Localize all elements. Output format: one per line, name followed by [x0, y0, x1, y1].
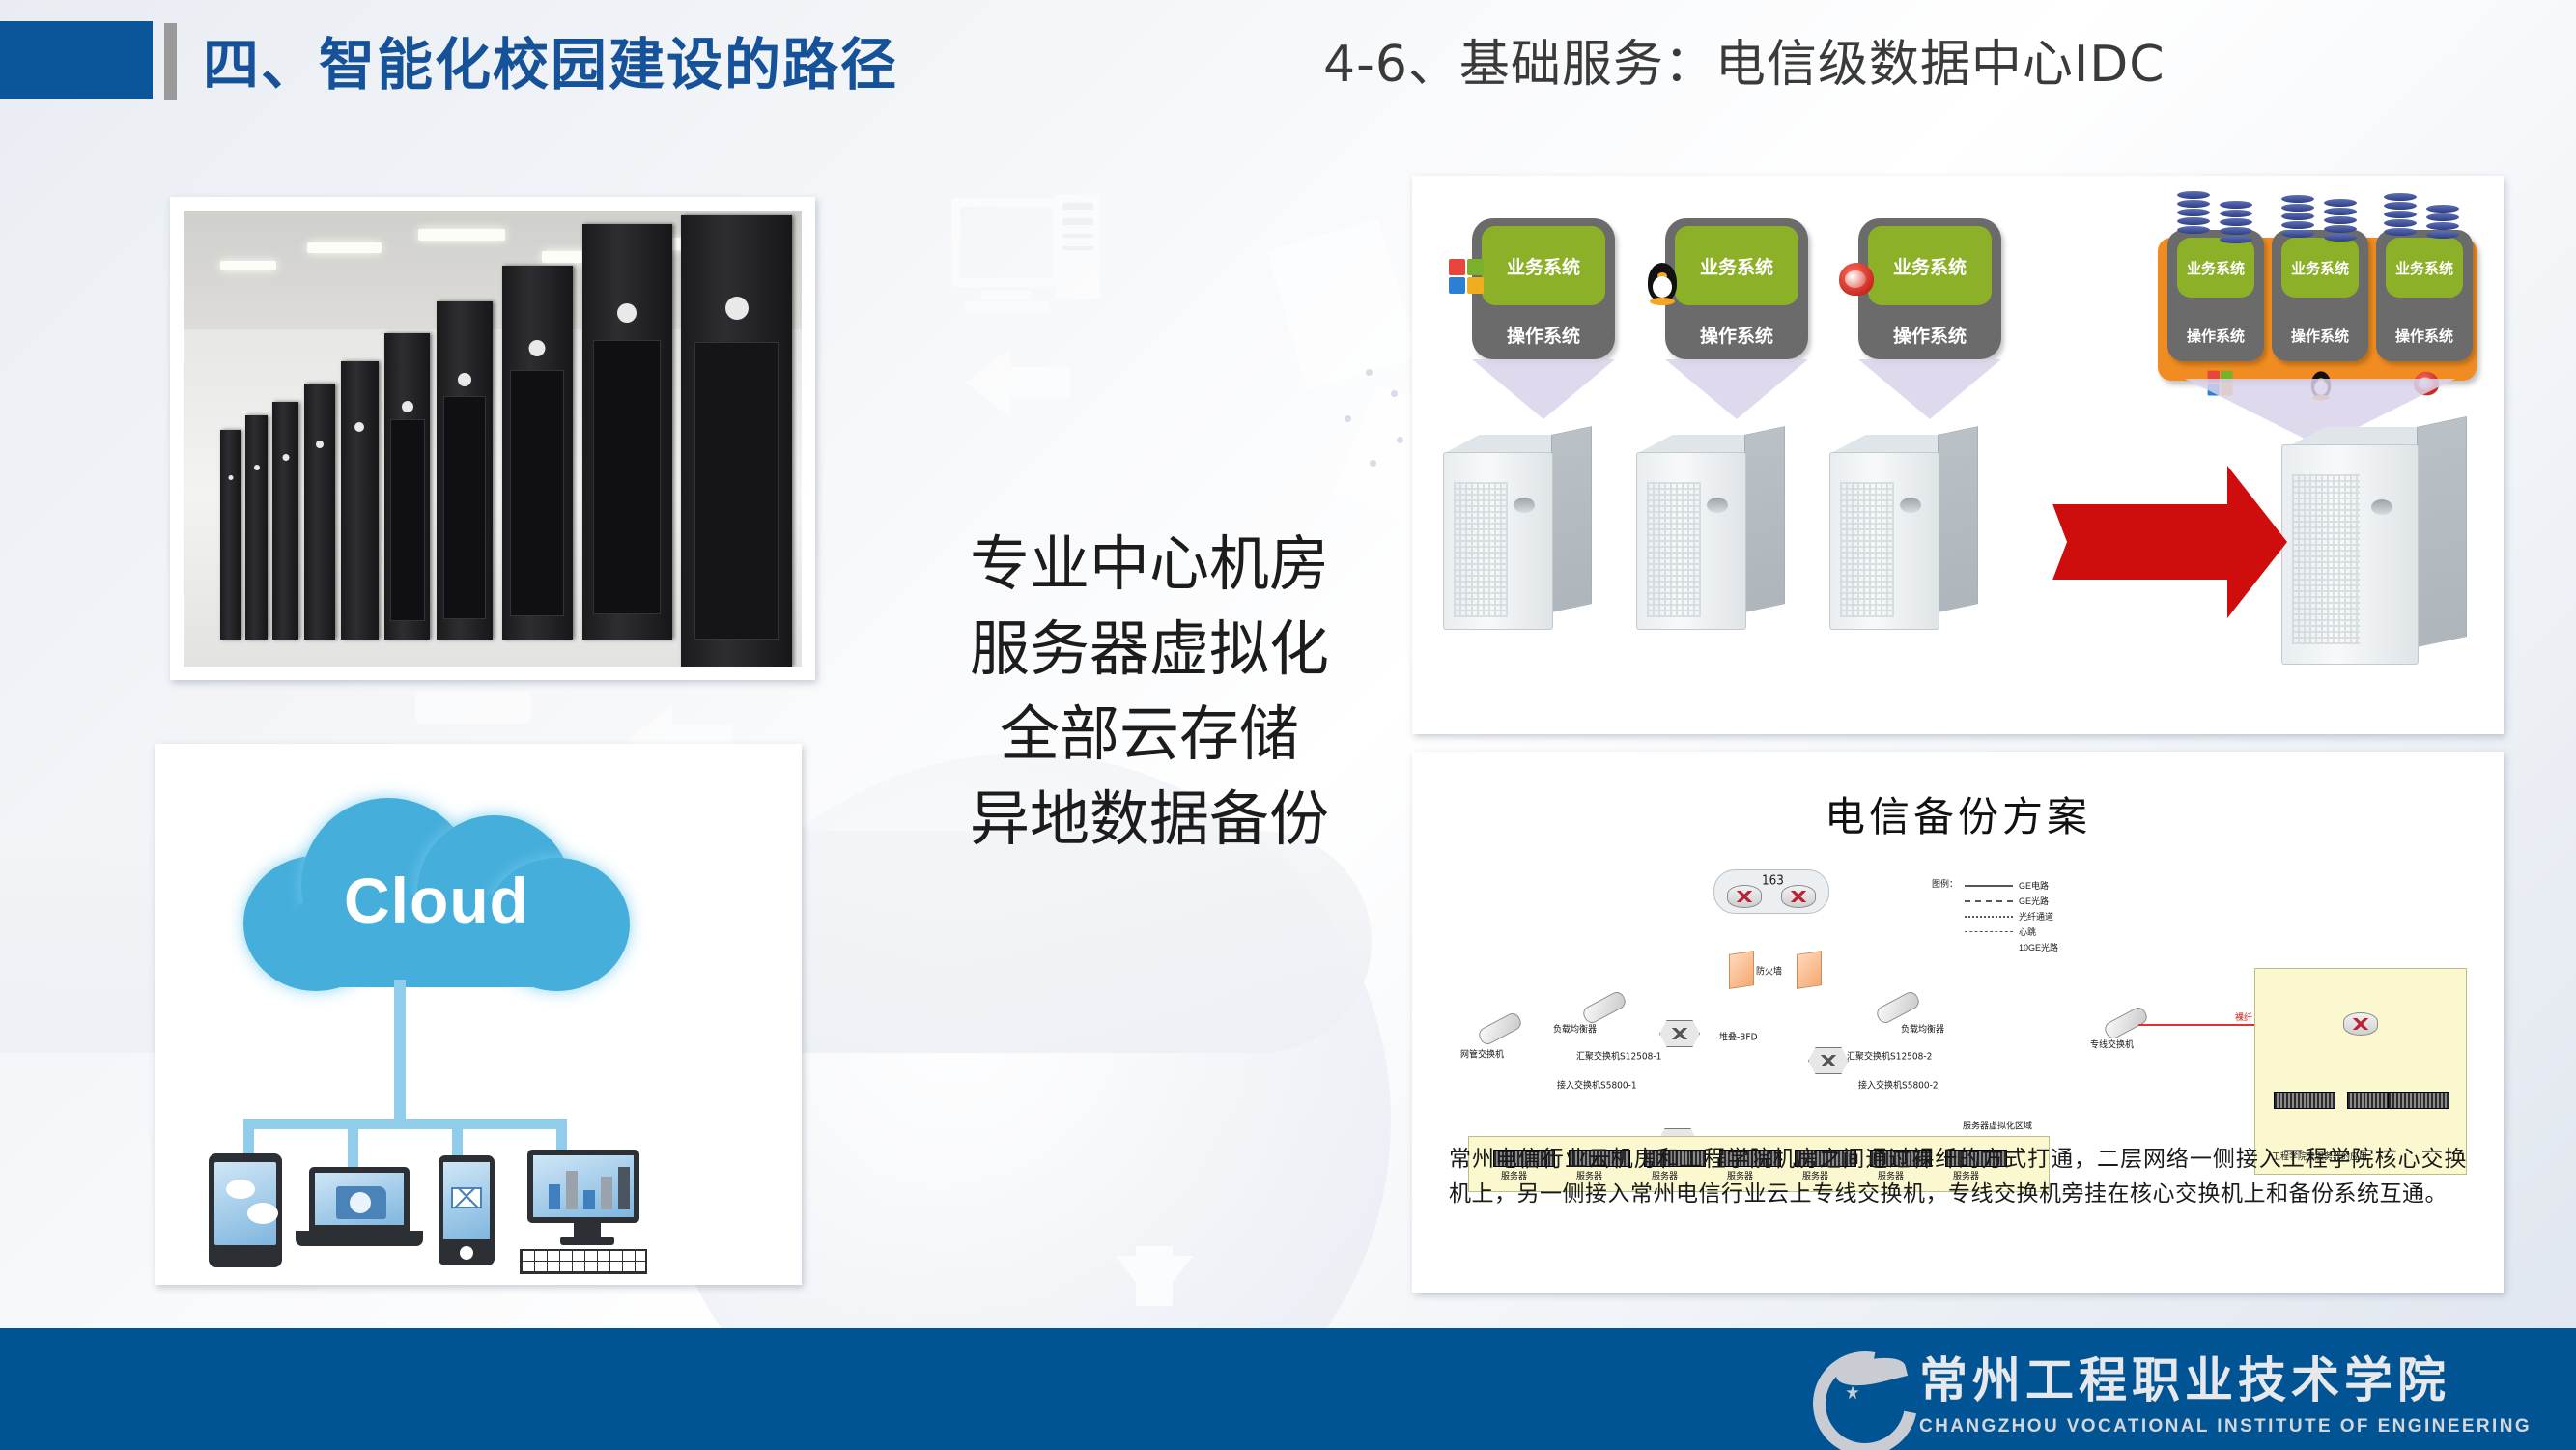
device-phone: [439, 1155, 495, 1265]
legend-line-dotted: [1965, 916, 2013, 918]
server-rack: [304, 384, 335, 639]
server-rack: [502, 266, 574, 640]
legend-item-label: 10GE光路: [2019, 941, 2058, 953]
server-rack: [272, 402, 298, 639]
load-balancer-left-node: [1580, 989, 1628, 1025]
center-key-points: 专业中心机房 服务器虚拟化 全部云存储 异地数据备份: [898, 522, 1401, 862]
legend-line-dashdot: [1965, 931, 2013, 932]
vm-os-label: 操作系统: [1665, 322, 1808, 348]
cloud-diagram-content: Cloud: [166, 755, 790, 1273]
vm-box-redos: 业务系统 操作系统: [2376, 230, 2473, 361]
firewall-node: [1729, 951, 1754, 989]
footer-bar: 常州工程职业技术学院 CHANGZHOU VOCATIONAL INSTITUT…: [0, 1328, 2576, 1450]
vm-box-linux: 业务系统 操作系统: [2272, 230, 2368, 361]
network-legend: 图例： GE电路 GE光路 光纤通道 心跳 10GE光路: [1932, 877, 2058, 956]
page-title: 四、智能化校园建设的路径: [203, 19, 898, 100]
mgmt-switch-label: 网管交换机: [1460, 1046, 1504, 1060]
mgmt-switch-node: [1476, 1010, 1523, 1046]
virtualization-diagram-content: 业务系统 操作系统 业务系统 操作系统 业务系统 操作系统: [1422, 185, 2494, 725]
access-switch-1-label: 接入交换机S5800-1: [1557, 1077, 1637, 1091]
ceiling-light: [220, 261, 276, 270]
backup-plan-diagram: 电信备份方案 163 防火墙 汇聚交换机S12508-1 汇聚交换机S12508…: [1412, 752, 2504, 1293]
legend-item-label: 心跳: [2019, 925, 2036, 938]
server-rack: [437, 301, 493, 639]
vm-os-label: 操作系统: [2376, 326, 2473, 346]
server-rack: [681, 215, 792, 667]
legend-line-solid: [1965, 885, 2013, 887]
core-router-node: [1781, 885, 1816, 908]
storage-disk-stack-icon: [2324, 199, 2357, 242]
server-room-photo: [170, 197, 815, 680]
key-point-line: 服务器虚拟化: [898, 607, 1401, 692]
vm-box-redos: 业务系统 操作系统: [1858, 218, 2001, 359]
header-accent-block: [0, 21, 153, 99]
server-room-photo-content: [184, 211, 802, 667]
load-balancer-right-label: 负载均衡器: [1901, 1021, 1944, 1035]
inter-switch-link-label: 堆叠-BFD: [1719, 1029, 1758, 1042]
backup-plan-title: 电信备份方案: [1422, 784, 2494, 843]
vm-projection-cone: [1472, 359, 1615, 419]
dedicated-switch-label: 专线交换机: [2090, 1037, 2134, 1050]
remote-server-node: [2388, 1092, 2449, 1109]
background-desktop-pc-icon: [951, 198, 1062, 312]
storage-disk-stack-icon: [2281, 195, 2314, 239]
institution-name-en: CHANGZHOU VOCATIONAL INSTITUTE OF ENGINE…: [1919, 1416, 2532, 1437]
vm-app-label: 业务系统: [1675, 226, 1798, 305]
physical-server: [1829, 435, 1976, 628]
vm-box-windows: 业务系统 操作系统: [1472, 218, 1615, 359]
server-rack: [341, 361, 378, 640]
storage-disk-stack-icon: [2220, 201, 2252, 244]
access-switch-2-label: 接入交换机S5800-2: [1858, 1077, 1939, 1091]
legend-line-dashed: [1965, 900, 2013, 902]
remote-server-node: [2274, 1092, 2335, 1109]
key-point-line: 全部云存储: [898, 692, 1401, 777]
core-switch-2-label: 汇聚交换机S12508-2: [1847, 1048, 1932, 1062]
firewall-node: [1797, 951, 1822, 989]
vm-app-label: 业务系统: [1482, 226, 1605, 305]
ceiling-light: [418, 229, 505, 241]
backup-plan-paragraph: 常州电信行业云机房和工程学院机房之间通过裸纤的方式打通，二层网络一侧接入工程学院…: [1449, 1143, 2467, 1211]
vm-box-windows: 业务系统 操作系统: [2167, 230, 2264, 361]
firewall-label: 防火墙: [1756, 963, 1782, 977]
core-router-node: [1727, 885, 1762, 908]
backup-plan-content: 电信备份方案 163 防火墙 汇聚交换机S12508-1 汇聚交换机S12508…: [1422, 761, 2494, 1283]
ceiling-light: [307, 242, 382, 253]
server-rack: [245, 415, 268, 639]
key-point-line: 异地数据备份: [898, 777, 1401, 862]
vm-app-label: 业务系统: [2281, 238, 2359, 298]
core-switch-1-label: 汇聚交换机S12508-1: [1576, 1048, 1661, 1062]
vm-os-label: 操作系统: [1858, 322, 2001, 348]
storage-disk-stack-icon: [2384, 193, 2417, 237]
device-laptop: [309, 1167, 423, 1246]
key-point-line: 专业中心机房: [898, 522, 1401, 607]
network-topology: 163 防火墙 汇聚交换机S12508-1 汇聚交换机S12508-2 堆叠-B…: [1422, 877, 2494, 1157]
institution-logo: 常州工程职业技术学院 CHANGZHOU VOCATIONAL INSTITUT…: [1813, 1342, 2532, 1437]
load-balancer-right-node: [1874, 989, 1921, 1025]
cloud-diagram-image: Cloud: [155, 744, 802, 1285]
physical-server: [1636, 435, 1783, 628]
fiber-link-label: 裸纤: [2235, 1009, 2252, 1023]
physical-server: [1443, 435, 1590, 628]
server-rack: [220, 430, 240, 640]
storage-disk-stack-icon: [2426, 205, 2459, 240]
legend-title: 图例：: [1932, 877, 1958, 890]
server-pool-note-label: 服务器虚拟化区域: [1963, 1118, 2032, 1131]
server-rack: [384, 333, 430, 639]
red-os-logo-icon: [1839, 263, 1874, 296]
institution-emblem-icon: [1813, 1346, 1906, 1435]
vm-box-linux: 业务系统 操作系统: [1665, 218, 1808, 359]
slide-root: 四、智能化校园建设的路径 4-6、基础服务：电信级数据中心IDC: [0, 0, 2576, 1450]
vm-projection-cone: [1858, 359, 2001, 419]
page-subtitle: 4-6、基础服务：电信级数据中心IDC: [1323, 23, 2166, 96]
windows-logo-icon: [1449, 259, 1487, 298]
vm-app-label: 业务系统: [2177, 238, 2254, 298]
virtualization-diagram: 业务系统 操作系统 业务系统 操作系统 业务系统 操作系统: [1412, 176, 2504, 734]
load-balancer-left-label: 负载均衡器: [1553, 1021, 1597, 1035]
vm-app-label: 业务系统: [1868, 226, 1992, 305]
vm-app-label: 业务系统: [2386, 238, 2463, 298]
cloud-connector: [243, 1119, 566, 1129]
server-rack: [582, 224, 672, 640]
internet-cloud-label: 163: [1762, 872, 1784, 887]
transition-arrow-icon: [2038, 504, 2227, 580]
vm-os-label: 操作系统: [1472, 322, 1615, 348]
remote-router-node: [2343, 1012, 2378, 1036]
device-desktop-monitor: [527, 1150, 647, 1274]
institution-name-cn: 常州工程职业技术学院: [1919, 1342, 2532, 1411]
core-switch-node-2: [1808, 1047, 1849, 1074]
legend-item-label: GE光路: [2019, 895, 2049, 907]
legend-item-label: GE电路: [2019, 879, 2049, 892]
vm-os-label: 操作系统: [2272, 326, 2368, 346]
storage-disk-stack-icon: [2177, 191, 2210, 235]
background-keyboard-icon: [415, 691, 531, 724]
cloud-label: Cloud: [243, 864, 630, 937]
background-arrow-left-icon: [966, 348, 1010, 417]
cloud-shape-icon: Cloud: [243, 788, 630, 991]
vm-projection-cone: [1665, 359, 1808, 419]
cloud-connector: [394, 980, 406, 1124]
core-switch-node-1: [1659, 1020, 1700, 1047]
legend-item-label: 光纤通道: [2019, 910, 2053, 923]
physical-server: [2281, 427, 2465, 667]
cloud-connector: [348, 1119, 358, 1169]
device-tablet: [209, 1153, 282, 1267]
linux-tux-logo-icon: [1648, 263, 1677, 301]
header-divider-bar: [164, 23, 177, 100]
background-arrow-down-icon: [1116, 1256, 1193, 1306]
vm-os-label: 操作系统: [2167, 326, 2264, 346]
backup-title-text: 电信备份方案: [1825, 793, 2091, 840]
background-paper-shape: [1267, 218, 1419, 389]
dedicated-switch-node: [2102, 1005, 2149, 1040]
